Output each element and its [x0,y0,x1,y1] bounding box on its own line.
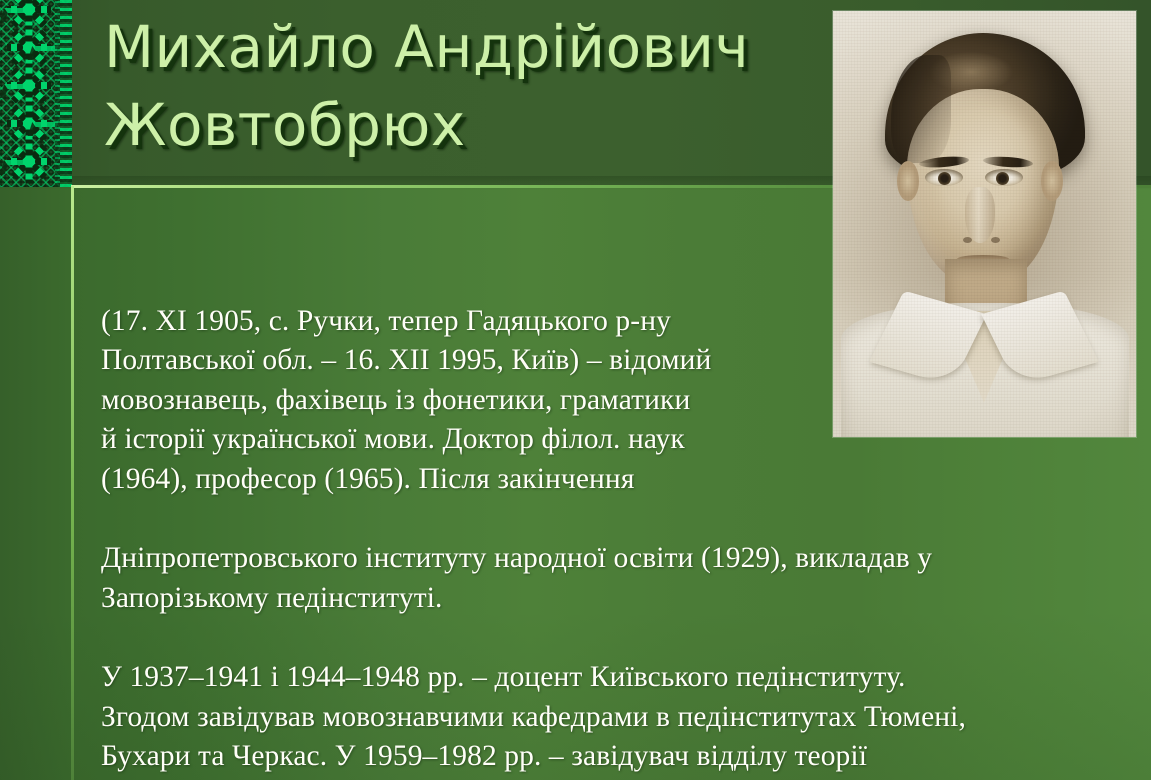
embroidery-chevron-icon [28,122,59,136]
biography-text: (17. XI 1905, с. Ручки, тепер Гадяцького… [101,262,1141,780]
embroidery-chevron-icon [0,8,30,22]
page-title: Михайло Андрійович Жовтобрюх [104,8,804,164]
biography-paragraph-1: (17. XI 1905, с. Ручки, тепер Гадяцького… [101,302,801,500]
embroidery-outer-edge [60,0,72,187]
embroidery-chevron-icon [28,46,59,60]
frame-line-vertical [71,186,74,780]
ukrainian-embroidery-border [0,0,72,187]
biography-paragraph-3: У 1937–1941 і 1944–1948 рр. – доцент Киї… [101,658,1141,780]
presentation-slide: Михайло Андрійович Жовтобрюх [0,0,1151,780]
embroidery-chevron-icon [0,84,30,98]
embroidery-chevron-icon [0,160,30,174]
biography-paragraph-2: Дніпропетровського інституту народної ос… [101,539,1141,618]
